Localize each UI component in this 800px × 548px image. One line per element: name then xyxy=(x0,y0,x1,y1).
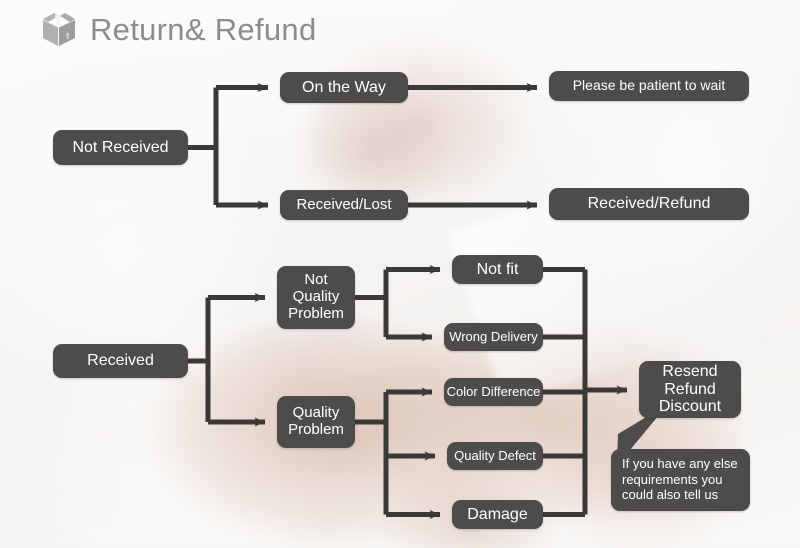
extra-requirements-callout: If you have any else requirements you co… xyxy=(611,449,750,511)
node-resend-refund-discount[interactable]: Resend Refund Discount xyxy=(639,361,741,418)
node-quality-problem[interactable]: Quality Problem xyxy=(277,396,355,448)
node-color-difference[interactable]: Color Difference xyxy=(444,378,543,406)
node-received[interactable]: Received xyxy=(53,344,188,378)
node-received-refund[interactable]: Received/Refund xyxy=(549,188,749,220)
page-title: Return& Refund xyxy=(90,14,317,45)
package-box-icon xyxy=(42,11,76,47)
node-quality-defect[interactable]: Quality Defect xyxy=(447,442,543,470)
node-received-lost[interactable]: Received/Lost xyxy=(280,190,408,220)
node-not-fit[interactable]: Not fit xyxy=(452,255,543,284)
node-wrong-delivery[interactable]: Wrong Delivery xyxy=(444,323,543,351)
node-damage[interactable]: Damage xyxy=(452,500,543,529)
node-not-quality-problem[interactable]: Not Quality Problem xyxy=(277,266,355,329)
node-please-be-patient[interactable]: Please be patient to wait xyxy=(549,71,749,101)
node-on-the-way[interactable]: On the Way xyxy=(280,72,408,103)
page-header: Return& Refund xyxy=(0,0,800,58)
node-not-received[interactable]: Not Received xyxy=(53,130,188,165)
return-refund-infographic: Return& Refund xyxy=(0,0,800,548)
